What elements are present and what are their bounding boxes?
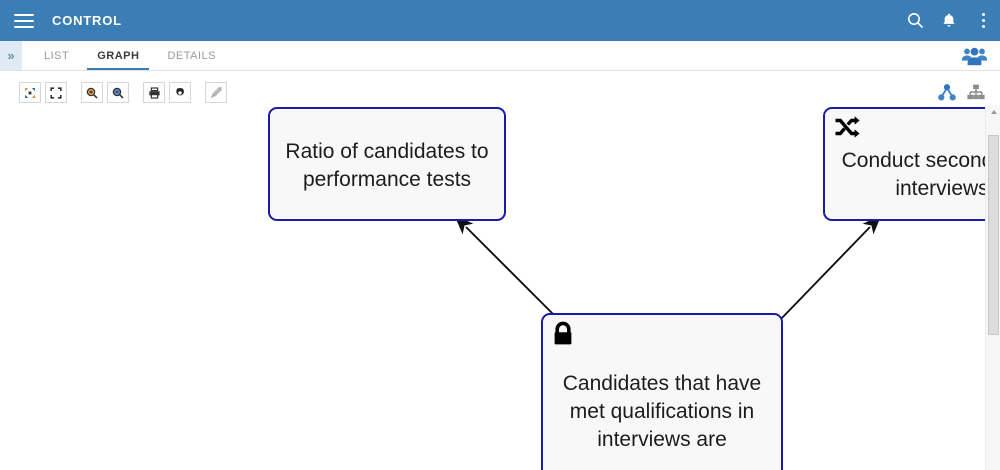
layout-switcher bbox=[937, 83, 1000, 102]
print-button[interactable] bbox=[143, 82, 165, 103]
hamburger-icon[interactable] bbox=[14, 14, 34, 28]
gear-icon bbox=[174, 87, 186, 99]
tab-graph[interactable]: GRAPH bbox=[83, 41, 153, 70]
vertical-scroll-thumb[interactable] bbox=[988, 135, 999, 335]
graph-toolbar-buttons bbox=[19, 82, 231, 103]
sidebar-expand-button[interactable]: » bbox=[0, 41, 22, 70]
fullscreen-button[interactable] bbox=[45, 82, 67, 103]
tab-bar: » LIST GRAPH DETAILS bbox=[0, 41, 1000, 71]
zoom-in-icon bbox=[86, 87, 98, 99]
app-header: CONTROL bbox=[0, 0, 1000, 41]
graph-node-label: Conduct second level interviews bbox=[825, 147, 1000, 203]
graph-node-label: Ratio of candidates to performance tests bbox=[270, 138, 504, 194]
edge-candidates-to-conduct[interactable] bbox=[780, 227, 870, 320]
printer-icon bbox=[148, 87, 161, 99]
graph-node-label: Candidates that have met qualifications … bbox=[543, 370, 781, 454]
edge-candidates-to-ratio[interactable] bbox=[466, 227, 556, 317]
tab-list: LIST GRAPH DETAILS bbox=[22, 41, 230, 70]
fullscreen-icon bbox=[50, 87, 62, 99]
fit-to-screen-button[interactable] bbox=[19, 82, 41, 103]
zoom-out-button[interactable] bbox=[107, 82, 129, 103]
zoom-out-icon bbox=[112, 87, 124, 99]
zoom-in-button[interactable] bbox=[81, 82, 103, 103]
bell-icon[interactable] bbox=[932, 0, 966, 41]
tab-details[interactable]: DETAILS bbox=[153, 41, 230, 70]
tab-list-view[interactable]: LIST bbox=[30, 41, 83, 70]
graph-node-candidates[interactable]: Candidates that have met qualifications … bbox=[541, 313, 783, 470]
pencil-slash-icon bbox=[210, 86, 223, 99]
edit-disabled-button[interactable] bbox=[205, 82, 227, 103]
kebab-menu-icon[interactable] bbox=[966, 0, 1000, 41]
tabbar-spacer bbox=[230, 41, 961, 70]
graph-node-ratio[interactable]: Ratio of candidates to performance tests bbox=[268, 107, 506, 221]
search-icon[interactable] bbox=[898, 0, 932, 41]
settings-button[interactable] bbox=[169, 82, 191, 103]
app-title: CONTROL bbox=[52, 13, 122, 28]
move-resize-icon bbox=[24, 87, 36, 99]
graph-canvas[interactable]: Ratio of candidates to performance tests… bbox=[0, 105, 1000, 470]
node-link-icon bbox=[937, 83, 957, 102]
people-group-icon[interactable] bbox=[961, 41, 1000, 70]
caret-up-icon[interactable] bbox=[986, 105, 1000, 118]
organic-layout-button[interactable] bbox=[937, 83, 957, 102]
tree-hierarchy-icon bbox=[966, 83, 986, 102]
hierarchic-layout-button[interactable] bbox=[966, 83, 986, 102]
graph-node-conduct[interactable]: Conduct second level interviews bbox=[823, 107, 1000, 221]
vertical-scrollbar[interactable] bbox=[985, 105, 1000, 470]
